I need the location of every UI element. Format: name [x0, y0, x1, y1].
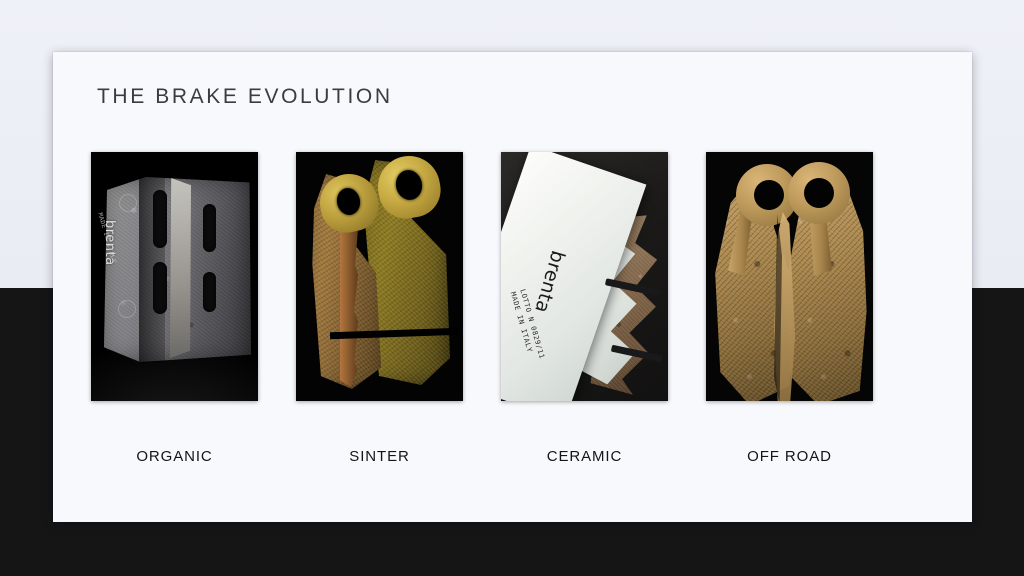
offroad-pad-pin-hole-right [804, 178, 834, 208]
product-label-sinter: SINTER [349, 448, 409, 465]
content-card: THE BRAKE EVOLUTION brenta [53, 52, 972, 522]
organic-pad-highlight-column [169, 178, 191, 358]
organic-brake-pad-photo: brenta MADE IN ITALY [91, 152, 258, 401]
organic-photo-scene: brenta MADE IN ITALY [91, 152, 258, 401]
product-label-organic: ORGANIC [136, 448, 212, 465]
offroad-photo-scene [706, 152, 873, 401]
product-item-sinter[interactable]: SINTER [296, 152, 463, 465]
sinter-photo-scene [296, 152, 463, 401]
product-item-ceramic[interactable]: brenta LOTTO N 0829/11MADE IN ITALY CERA… [501, 152, 668, 465]
offroad-brake-pad-photo [706, 152, 873, 401]
product-row: brenta MADE IN ITALY ORGANIC [53, 152, 972, 465]
offroad-pad-pin-hole-left [754, 180, 784, 210]
sinter-brake-pad-photo [296, 152, 463, 401]
page-title: THE BRAKE EVOLUTION [97, 85, 393, 109]
product-item-organic[interactable]: brenta MADE IN ITALY ORGANIC [91, 152, 258, 465]
slide-root: THE BRAKE EVOLUTION brenta [0, 0, 1024, 576]
ceramic-photo-scene: brenta LOTTO N 0829/11MADE IN ITALY [501, 152, 668, 401]
organic-pad-slot [153, 190, 167, 248]
ceramic-brake-pad-photo: brenta LOTTO N 0829/11MADE IN ITALY [501, 152, 668, 401]
organic-pad-rivet [118, 300, 136, 318]
product-label-ceramic: CERAMIC [547, 448, 622, 465]
organic-pad-slot [203, 204, 216, 252]
organic-pad-rivet [119, 194, 137, 212]
organic-pad-slot [153, 262, 167, 314]
product-item-offroad[interactable]: OFF ROAD [706, 152, 873, 465]
organic-pad-slot [203, 272, 216, 312]
product-label-offroad: OFF ROAD [747, 448, 832, 465]
